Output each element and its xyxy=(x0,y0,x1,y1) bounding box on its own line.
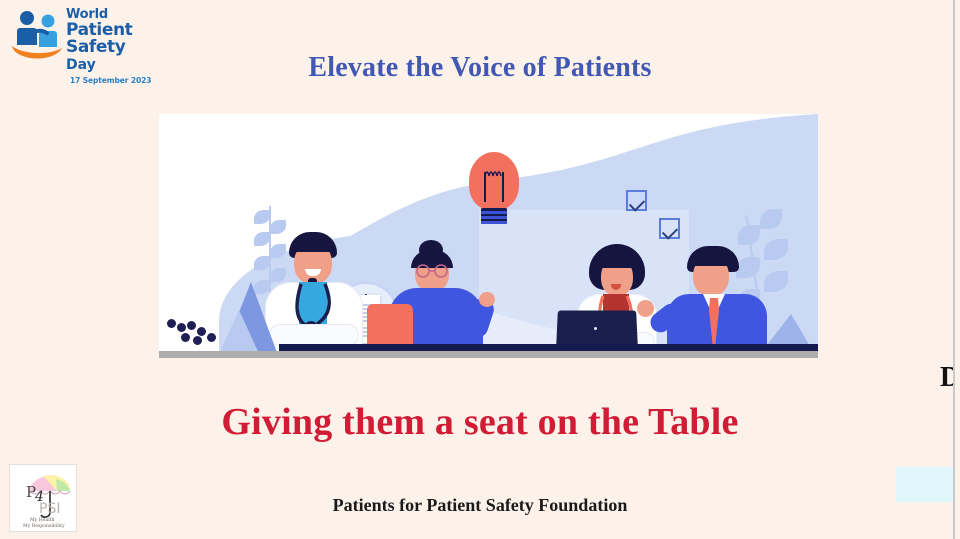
checkbox-checked-icon xyxy=(659,218,680,239)
table-surface xyxy=(159,344,818,358)
partial-text-fragment: D xyxy=(940,362,955,394)
ppsi-foundation-logo: P 4 PSI My Health My Responsibility xyxy=(10,465,76,531)
illustration-image xyxy=(159,114,818,358)
slide-title-primary: Elevate the Voice of Patients xyxy=(0,52,955,84)
umbrella-icon: P 4 PSI My Health My Responsibility xyxy=(10,465,76,531)
lightbulb-base xyxy=(481,208,507,224)
checkbox-checked-icon xyxy=(626,190,647,211)
glasses-icon xyxy=(415,264,455,278)
organization-name: Patients for Patient Safety Foundation xyxy=(0,495,955,516)
lightbulb-icon xyxy=(469,152,519,226)
wpsd-line2: Patient Safety xyxy=(66,22,178,56)
svg-text:PSI: PSI xyxy=(39,501,60,517)
slide-title-secondary: Giving them a seat on the Table xyxy=(0,400,955,444)
highlight-box xyxy=(896,467,953,502)
ppsi-tagline-line1: My Health xyxy=(30,517,55,523)
slide-canvas: World Patient Safety Day 17 September 20… xyxy=(0,0,955,539)
ppsi-tagline-line2: My Responsibility xyxy=(23,523,65,529)
